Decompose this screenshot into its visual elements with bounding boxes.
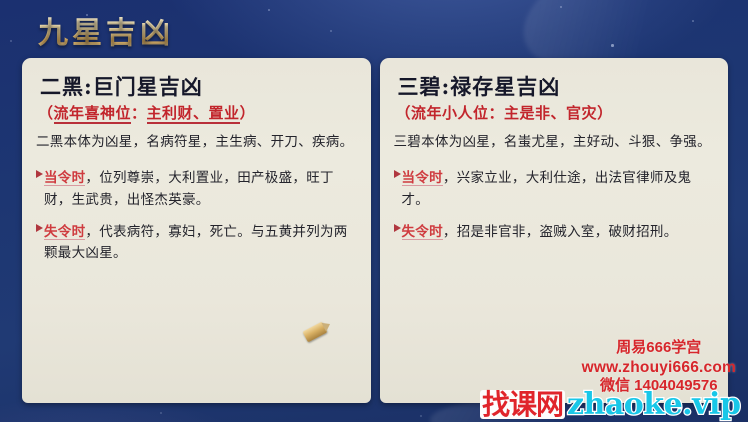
- slide-root: 九星吉凶 二黑:巨门星吉凶 （流年喜神位：主利财、置业） 二黑本体为凶星，名病符…: [0, 0, 748, 422]
- card-description: 三碧本体为凶星，名蚩尤星，主好动、斗狠、争强。: [394, 132, 715, 153]
- card-er-hei[interactable]: 二黑:巨门星吉凶 （流年喜神位：主利财、置业） 二黑本体为凶星，名病符星，主生病…: [22, 58, 371, 403]
- card-subtitle: （流年小人位：主是非、官灾）: [396, 102, 715, 123]
- cards-container: 二黑:巨门星吉凶 （流年喜神位：主利财、置业） 二黑本体为凶星，名病符星，主生病…: [22, 58, 728, 403]
- card-title: 三碧:禄存星吉凶: [398, 74, 715, 100]
- list-item-keyword: 失令时: [402, 224, 443, 240]
- list-item: 失令时，招是非官非，盗贼入室，破财招刑。: [394, 221, 715, 242]
- subtitle-close-paren: ）: [240, 105, 256, 122]
- subtitle-close-paren: ）: [597, 105, 613, 122]
- header: 九星吉凶: [0, 0, 748, 58]
- triangle-bullet-icon: [36, 170, 43, 178]
- card-subtitle: （流年喜神位：主利财、置业）: [38, 102, 357, 123]
- list-item-text: ，代表病符，寡妇，死亡。与五黄并列为两颗最大凶星。: [44, 224, 348, 260]
- triangle-bullet-icon: [394, 170, 401, 178]
- list-item: 当令时，位列尊崇，大利置业，田产极盛，旺丁财，生武贵，出怪杰英豪。: [36, 167, 357, 210]
- card-description: 二黑本体为凶星，名病符星，主生病、开刀、疾病。: [36, 132, 357, 153]
- list-item-body: 失令时，招是非官非，盗贼入室，破财招刑。: [402, 221, 678, 242]
- subtitle-colon: ：: [131, 105, 147, 122]
- subtitle-meaning-label: 主利财、置业: [147, 105, 240, 124]
- list-item: 当令时，兴家立业，大利仕途，出法官律师及鬼才。: [394, 167, 715, 210]
- card-blocks: 当令时，兴家立业，大利仕途，出法官律师及鬼才。 失令时，招是非官非，盗贼入室，破…: [394, 167, 715, 242]
- triangle-bullet-icon: [394, 224, 401, 232]
- list-item-body: 当令时，兴家立业，大利仕途，出法官律师及鬼才。: [402, 167, 715, 210]
- subtitle-position-label: 流年喜神位: [54, 105, 132, 124]
- list-item-keyword: 当令时: [44, 170, 85, 186]
- card-title: 二黑:巨门星吉凶: [40, 74, 357, 100]
- card-san-bi[interactable]: 三碧:禄存星吉凶 （流年小人位：主是非、官灾） 三碧本体为凶星，名蚩尤星，主好动…: [380, 58, 729, 403]
- page-title: 九星吉凶: [38, 8, 174, 52]
- list-item-keyword: 当令时: [402, 170, 443, 186]
- list-item-text: ，位列尊崇，大利置业，田产极盛，旺丁财，生武贵，出怪杰英豪。: [44, 170, 334, 206]
- list-item-keyword: 失令时: [44, 224, 85, 240]
- list-item: 失令时，代表病符，寡妇，死亡。与五黄并列为两颗最大凶星。: [36, 221, 357, 264]
- list-item-text: ，招是非官非，盗贼入室，破财招刑。: [443, 224, 678, 239]
- triangle-bullet-icon: [36, 224, 43, 232]
- list-item-body: 当令时，位列尊崇，大利置业，田产极盛，旺丁财，生武贵，出怪杰英豪。: [44, 167, 357, 210]
- list-item-text: ，兴家立业，大利仕途，出法官律师及鬼才。: [402, 170, 692, 206]
- subtitle-meaning-label: 主是非、官灾: [504, 105, 597, 122]
- subtitle-open-paren: （: [38, 105, 54, 122]
- list-item-body: 失令时，代表病符，寡妇，死亡。与五黄并列为两颗最大凶星。: [44, 221, 357, 264]
- subtitle-colon: ：: [489, 105, 505, 122]
- subtitle-position-label: 流年小人位: [411, 105, 489, 122]
- subtitle-open-paren: （: [396, 105, 412, 122]
- card-blocks: 当令时，位列尊崇，大利置业，田产极盛，旺丁财，生武贵，出怪杰英豪。 失令时，代表…: [36, 167, 357, 263]
- pen-cursor-icon: [302, 322, 327, 343]
